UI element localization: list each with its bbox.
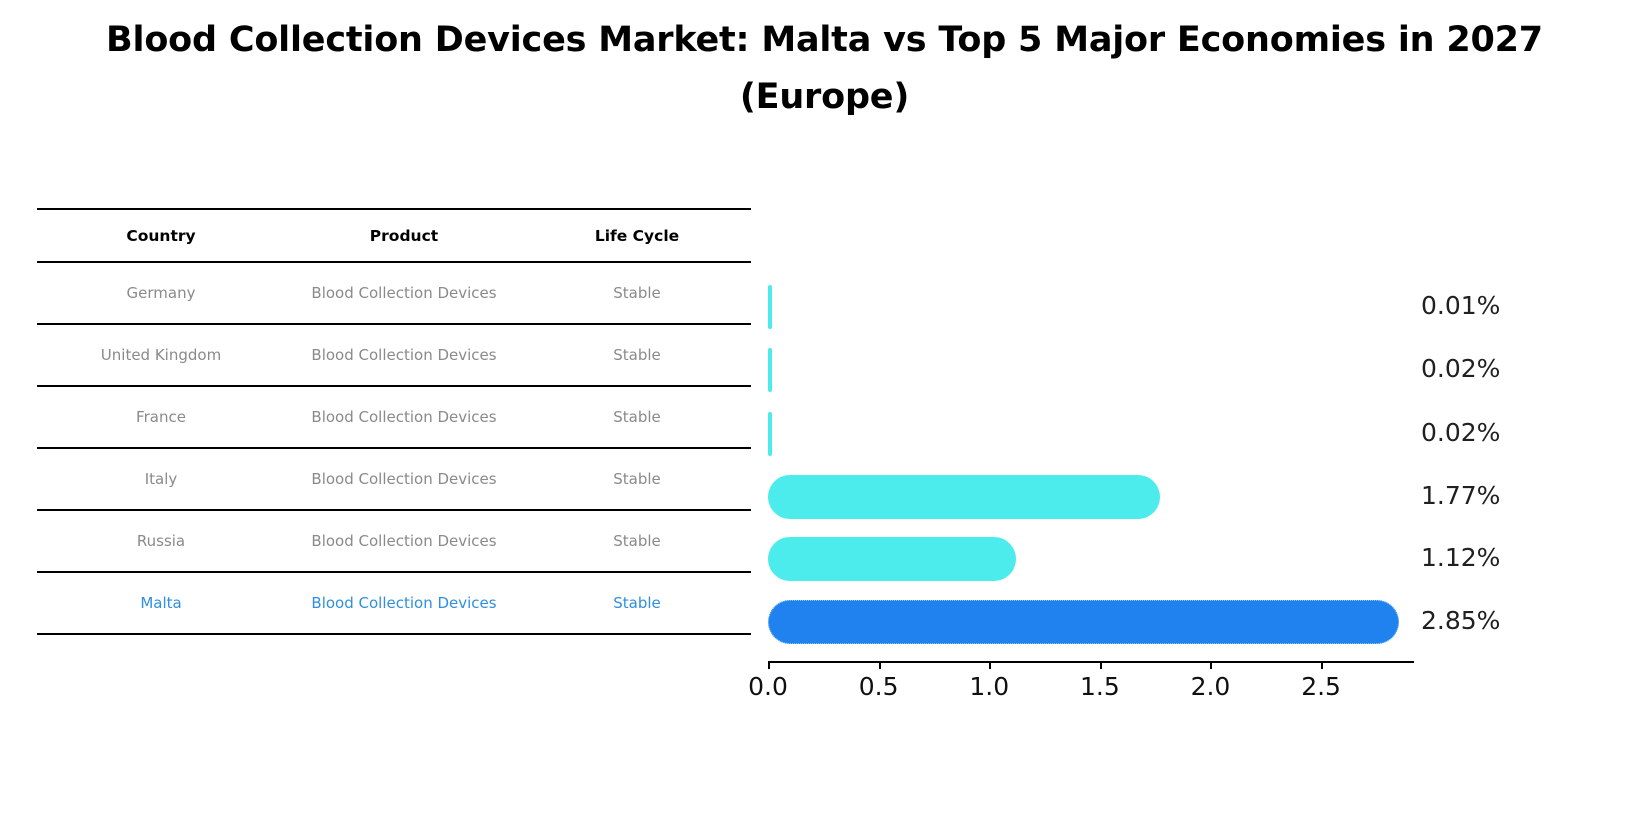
x-tick — [989, 661, 991, 669]
life-cycle-cell: Stable — [523, 572, 751, 634]
bar-italy — [768, 475, 1160, 519]
country-cell: Germany — [37, 262, 285, 324]
bar-row — [768, 537, 1414, 581]
chart-page: Blood Collection Devices Market: Malta v… — [0, 0, 1649, 823]
country-info-table: Country Product Life Cycle GermanyBlood … — [37, 208, 751, 635]
bar-value-label: 0.01% — [1421, 291, 1500, 320]
bar-row — [768, 348, 1414, 392]
page-title: Blood Collection Devices Market: Malta v… — [0, 12, 1649, 125]
x-tick — [1321, 661, 1323, 669]
x-tick-label: 1.5 — [1080, 672, 1120, 701]
x-tick — [1100, 661, 1102, 669]
life-cycle-cell: Stable — [523, 386, 751, 448]
country-cell: France — [37, 386, 285, 448]
life-cycle-cell: Stable — [523, 324, 751, 386]
title-line-2: (Europe) — [0, 69, 1649, 126]
table-row: MaltaBlood Collection DevicesStable — [37, 572, 751, 634]
product-cell: Blood Collection Devices — [285, 448, 523, 510]
title-line-1: Blood Collection Devices Market: Malta v… — [0, 12, 1649, 69]
x-tick-label: 1.0 — [969, 672, 1009, 701]
table-row: GermanyBlood Collection DevicesStable — [37, 262, 751, 324]
life-cycle-cell: Stable — [523, 448, 751, 510]
life-cycle-cell: Stable — [523, 510, 751, 572]
life-cycle-cell: Stable — [523, 262, 751, 324]
product-cell: Blood Collection Devices — [285, 324, 523, 386]
x-tick-label: 2.0 — [1191, 672, 1231, 701]
bar-france — [768, 412, 772, 456]
country-cell: Malta — [37, 572, 285, 634]
bar-value-label: 1.77% — [1421, 481, 1500, 510]
bar-value-label: 2.85% — [1421, 606, 1500, 635]
column-header-life-cycle: Life Cycle — [523, 209, 751, 262]
x-tick-label: 2.5 — [1301, 672, 1341, 701]
x-tick — [879, 661, 881, 669]
x-axis-line — [768, 661, 1414, 663]
bar-value-label: 0.02% — [1421, 354, 1500, 383]
x-tick — [768, 661, 770, 669]
bar-value-label: 0.02% — [1421, 418, 1500, 447]
country-cell: Russia — [37, 510, 285, 572]
bar-row — [768, 412, 1414, 456]
bar-row — [768, 600, 1414, 644]
product-cell: Blood Collection Devices — [285, 510, 523, 572]
bar-united-kingdom — [768, 348, 772, 392]
table-row: United KingdomBlood Collection DevicesSt… — [37, 324, 751, 386]
product-cell: Blood Collection Devices — [285, 262, 523, 324]
bar-row — [768, 475, 1414, 519]
x-tick-label: 0.5 — [859, 672, 899, 701]
bar-malta — [768, 600, 1399, 644]
product-cell: Blood Collection Devices — [285, 386, 523, 448]
column-header-country: Country — [37, 209, 285, 262]
x-tick-label: 0.0 — [748, 672, 788, 701]
country-cell: Italy — [37, 448, 285, 510]
table-row: FranceBlood Collection DevicesStable — [37, 386, 751, 448]
bar-row — [768, 285, 1414, 329]
bar-value-label: 1.12% — [1421, 543, 1500, 572]
bar-germany — [768, 285, 772, 329]
bar-russia — [768, 537, 1016, 581]
table-row: RussiaBlood Collection DevicesStable — [37, 510, 751, 572]
table-row: ItalyBlood Collection DevicesStable — [37, 448, 751, 510]
column-header-product: Product — [285, 209, 523, 262]
x-tick — [1210, 661, 1212, 669]
country-cell: United Kingdom — [37, 324, 285, 386]
product-cell: Blood Collection Devices — [285, 572, 523, 634]
table-header-row: Country Product Life Cycle — [37, 209, 751, 262]
